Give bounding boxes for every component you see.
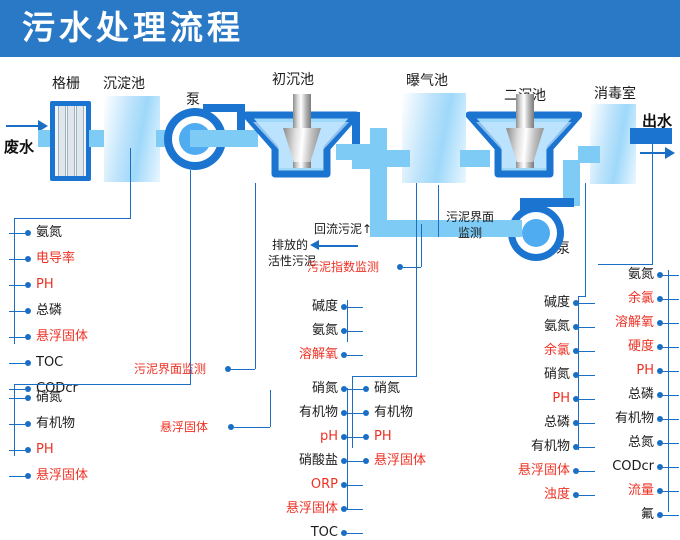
parameter-connector-dot <box>25 282 31 288</box>
parameter-label: CODcr <box>0 460 654 474</box>
connector-line <box>130 148 131 218</box>
parameter-connector-line <box>663 419 679 420</box>
parameter-connector-line <box>347 533 363 534</box>
connector-line <box>438 185 439 237</box>
parameter-connector-line <box>9 233 25 234</box>
pump2-impeller <box>522 219 550 247</box>
parameter-connector-line <box>663 347 679 348</box>
parameter-connector-line <box>663 371 679 372</box>
parameter-label: 电导率 <box>36 252 75 266</box>
pipe-sludge-return-branch <box>336 144 382 160</box>
page-title: 污水处理流程 <box>22 8 244 48</box>
equipment-label-aeration-tank: 曝气池 <box>406 73 448 89</box>
parameter-connector-line <box>663 299 679 300</box>
parameter-connector-line <box>663 395 679 396</box>
discharged-sludge-arrow-icon <box>310 240 319 250</box>
pipe-return-sludge-riser <box>370 160 387 237</box>
grille-bar <box>67 106 75 176</box>
parameter-connector-line <box>9 259 25 260</box>
diagram-canvas: 污水处理流程 格栅 沉淀池 泵 初沉池 曝气池 二沉池 消毒室 泵 废水 出水 <box>0 0 680 535</box>
parameter-label: 氨氮 <box>0 268 654 282</box>
parameter-label: 余氯 <box>0 292 654 306</box>
equipment-disinfection-room <box>590 104 636 184</box>
equipment-label-disinfection-room: 消毒室 <box>594 86 636 102</box>
parameter-connector-line <box>9 285 25 286</box>
parameter-connector-line <box>663 443 679 444</box>
parameter-label: 氟 <box>0 508 654 522</box>
parameter-connector-line <box>663 275 679 276</box>
parameter-label: TOC <box>0 526 338 540</box>
grille-bars-area <box>55 106 86 176</box>
connector-line <box>668 270 669 512</box>
pipe-effluent-outlet <box>630 128 672 144</box>
discharged-sludge-arrow-shaft <box>318 245 358 247</box>
parameter-label: 总氮 <box>0 436 654 450</box>
connector-line <box>598 264 653 265</box>
note-sludge-interface-monitor-line2: 监测 <box>458 226 482 241</box>
outlet-arrow-shaft <box>640 152 668 154</box>
parameter-connector-dot <box>25 256 31 262</box>
inlet-label: 废水 <box>4 139 34 156</box>
outlet-arrow-icon <box>665 147 675 159</box>
equipment-label-sedimentation-tank: 沉淀池 <box>103 76 145 92</box>
parameter-connector-line <box>663 467 679 468</box>
equipment-label-pump-1: 泵 <box>186 92 200 108</box>
parameter-connector-line <box>663 515 679 516</box>
pipe-secondary-to-disinfection <box>578 146 600 163</box>
parameter-label: 有机物 <box>0 412 654 426</box>
parameter-label: 流量 <box>0 484 654 498</box>
connector-line <box>14 218 131 219</box>
inlet-arrow-shaft <box>6 125 40 127</box>
parameter-label: 硬度 <box>0 340 654 354</box>
equipment-aeration-tank <box>402 93 466 183</box>
equipment-label-primary-clarifier: 初沉池 <box>272 72 314 88</box>
equipment-grille <box>50 101 91 181</box>
parameter-label: PH <box>0 364 654 378</box>
note-sludge-interface-monitor-line1: 污泥界面 <box>446 210 494 225</box>
note-discharged-sludge-line1: 排放的 <box>272 238 308 253</box>
parameter-connector-dot <box>25 230 31 236</box>
equipment-sedimentation-tank <box>104 96 160 182</box>
equipment-pump-1 <box>164 108 226 170</box>
equipment-label-grille: 格栅 <box>52 76 80 92</box>
parameter-label: 氨氮 <box>36 226 62 240</box>
grille-bar <box>58 106 66 176</box>
connector-line <box>421 224 422 267</box>
note-return-sludge: 回流污泥↑ <box>314 222 372 237</box>
parameter-connector-line <box>663 323 679 324</box>
grille-bar <box>76 106 84 176</box>
parameter-label: 溶解氧 <box>0 316 654 330</box>
parameter-label: 总磷 <box>0 388 654 402</box>
title-banner: 污水处理流程 <box>0 0 680 57</box>
parameter-connector-line <box>663 491 679 492</box>
connector-line <box>652 144 653 264</box>
